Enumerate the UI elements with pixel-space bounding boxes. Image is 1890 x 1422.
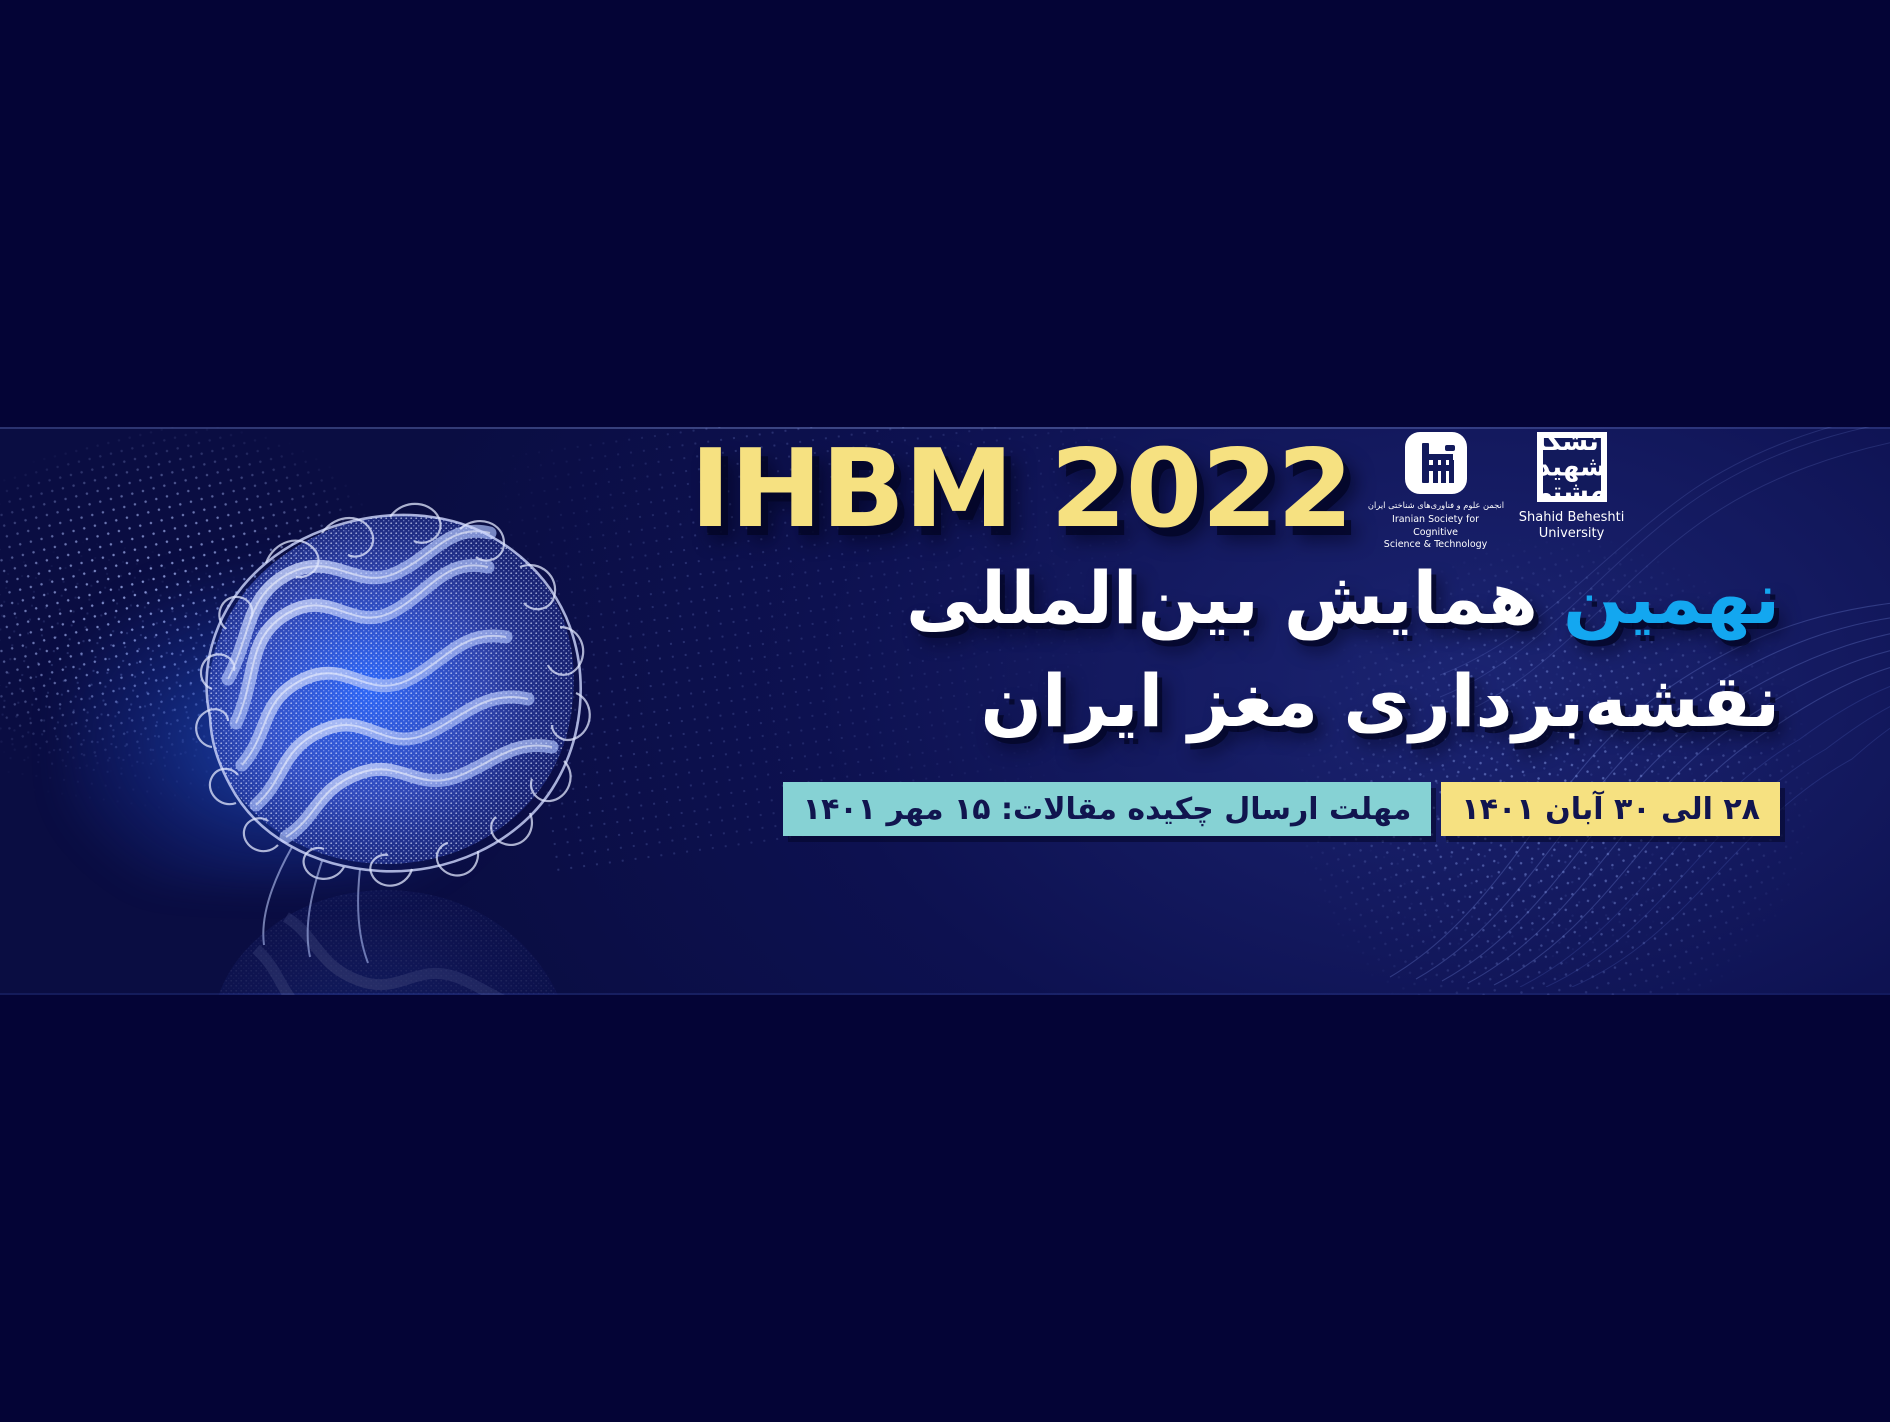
headline-line-2: نقشه‌برداری مغز ایران: [720, 665, 1780, 737]
isct-en-line2: Science & Technology: [1384, 539, 1488, 550]
headline-ordinal: نهمین: [1563, 556, 1780, 640]
logo-iranian-society[interactable]: انجمن علوم و فناوری‌های شناختی ایران Ira…: [1376, 432, 1496, 551]
page-title: IHBM 2022: [690, 436, 1353, 544]
abstract-deadline-badge: مهلت ارسال چکیده مقالات: ۱۵ مهر ۱۴۰۱: [783, 782, 1432, 836]
logo-shahid-beheshti[interactable]: دانشگاه شهید بهشتی Shahid Beheshti Unive…: [1512, 432, 1632, 543]
headline-line-1-rest: همایش بین‌المللی: [906, 556, 1563, 640]
isct-logo-english-name: Iranian Society for Cognitive Science & …: [1376, 514, 1496, 551]
isct-en-line1: Iranian Society for Cognitive: [1392, 514, 1479, 537]
headline-line-1: نهمین همایش بین‌المللی: [720, 562, 1780, 634]
badge-row: ۲۸ الی ۳۰ آبان ۱۴۰۱ مهلت ارسال چکیده مقا…: [783, 782, 1780, 836]
sbu-logo-english-name: Shahid Beheshti University: [1519, 510, 1625, 543]
event-date-badge: ۲۸ الی ۳۰ آبان ۱۴۰۱: [1441, 782, 1780, 836]
title-row: IHBM 2022 انجمن علوم و فناوری‌های ش: [690, 427, 1750, 557]
isct-logo-mark-icon: [1405, 432, 1467, 494]
logo-group: انجمن علوم و فناوری‌های شناختی ایران Ira…: [1376, 432, 1632, 551]
banner-content: IHBM 2022 انجمن علوم و فناوری‌های ش: [690, 427, 1790, 995]
shahid-beheshti-logo-mark-icon: دانشگاه شهید بهشتی: [1537, 432, 1607, 502]
sbu-en-line2: University: [1539, 526, 1605, 541]
isct-logo-persian-name: انجمن علوم و فناوری‌های شناختی ایران: [1367, 501, 1503, 511]
sbu-en-line1: Shahid Beheshti: [1519, 510, 1625, 525]
sbu-calligraphy: دانشگاه شهید بهشتی: [1541, 436, 1603, 498]
conference-banner: IHBM 2022 انجمن علوم و فناوری‌های ش: [0, 427, 1890, 995]
brain-glow: [60, 557, 520, 887]
page-background: IHBM 2022 انجمن علوم و فناوری‌های ش: [0, 0, 1890, 1422]
